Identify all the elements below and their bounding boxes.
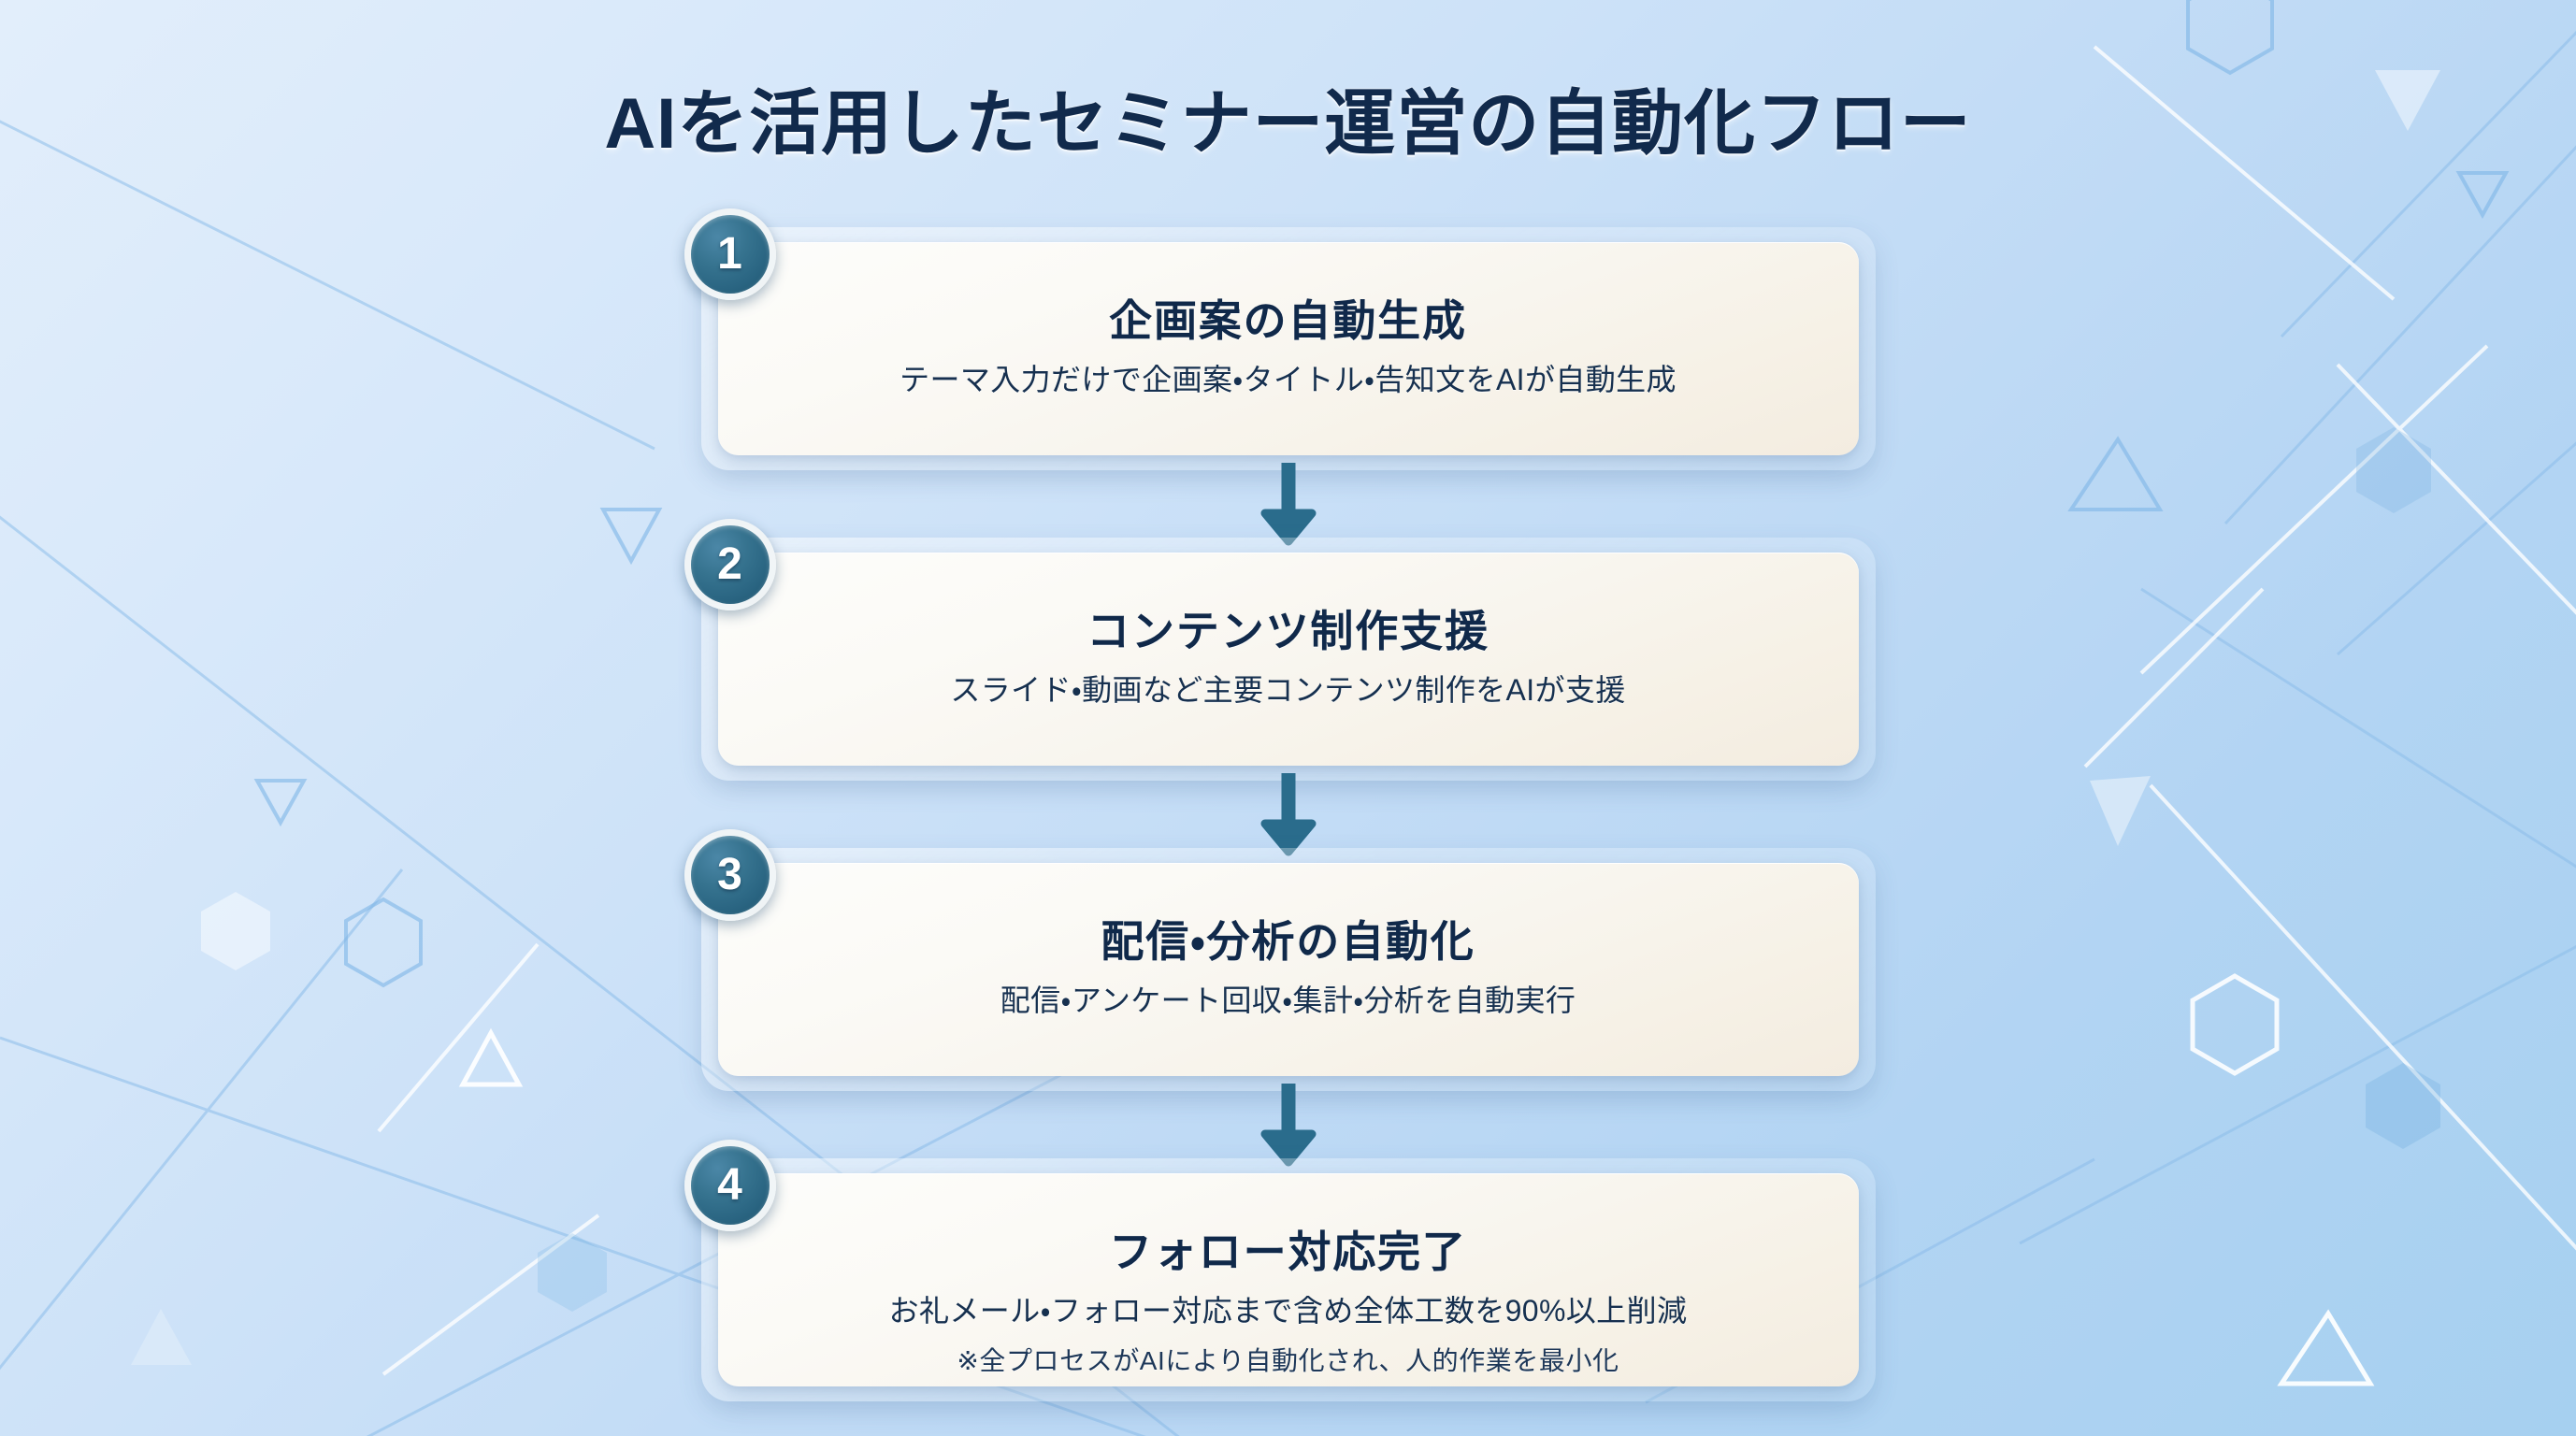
- step-number-badge: 3: [684, 829, 776, 921]
- step-description: テーマ入力だけで企画案・タイトル・告知文をAIが自動生成: [899, 361, 1677, 400]
- down-arrow-icon: [1256, 463, 1321, 547]
- flow-connector-1: [701, 470, 1876, 538]
- step-description: お礼メール・フォロー対応まで含め全体工数を90%以上削減: [889, 1292, 1688, 1331]
- footnote-container: ※全プロセスがAIにより自動化され、人的作業を最小化: [0, 1341, 2576, 1378]
- down-arrow-icon: [1256, 1084, 1321, 1168]
- step-description: 配信・アンケート回収・集計・分析を自動実行: [1000, 982, 1576, 1021]
- flow-connector-2: [701, 781, 1876, 848]
- step-title: フォロー対応完了: [1109, 1228, 1467, 1277]
- step-number-label: 2: [717, 542, 742, 587]
- step-card[interactable]: 企画案の自動生成 テーマ入力だけで企画案・タイトル・告知文をAIが自動生成: [718, 242, 1859, 455]
- step-number-label: 4: [717, 1163, 742, 1208]
- slide-title-container: AIを活用したセミナー運営の自動化フロー: [0, 65, 2576, 168]
- step-card[interactable]: コンテンツ制作支援 スライド・動画など主要コンテンツ制作をAIが支援: [718, 553, 1859, 766]
- step-description: スライド・動画など主要コンテンツ制作をAIが支援: [950, 671, 1625, 711]
- page-title: AIを活用したセミナー運営の自動化フロー: [604, 65, 1971, 168]
- step-number-badge: 1: [684, 208, 776, 300]
- step-number-label: 1: [717, 232, 742, 277]
- flow-step-2[interactable]: コンテンツ制作支援 スライド・動画など主要コンテンツ制作をAIが支援 2: [701, 538, 1876, 781]
- step-title: 配信・分析の自動化: [1101, 917, 1475, 967]
- step-number-badge: 4: [684, 1140, 776, 1231]
- down-arrow-icon: [1256, 773, 1321, 857]
- flow-connector-3: [701, 1091, 1876, 1158]
- footnote-text: ※全プロセスがAIにより自動化され、人的作業を最小化: [957, 1346, 1619, 1375]
- flow-step-3[interactable]: 配信・分析の自動化 配信・アンケート回収・集計・分析を自動実行 3: [701, 848, 1876, 1091]
- step-number-badge: 2: [684, 519, 776, 610]
- slide-canvas: AIを活用したセミナー運営の自動化フロー 企画案の自動生成 テーマ入力だけで企画…: [0, 0, 2576, 1436]
- flow-step-1[interactable]: 企画案の自動生成 テーマ入力だけで企画案・タイトル・告知文をAIが自動生成 1: [701, 227, 1876, 470]
- step-title: コンテンツ制作支援: [1087, 607, 1489, 656]
- flow-steps-container: 企画案の自動生成 テーマ入力だけで企画案・タイトル・告知文をAIが自動生成 1 …: [701, 227, 1876, 1401]
- step-card[interactable]: 配信・分析の自動化 配信・アンケート回収・集計・分析を自動実行: [718, 863, 1859, 1076]
- step-number-label: 3: [717, 853, 742, 897]
- step-title: 企画案の自動生成: [1109, 296, 1467, 346]
